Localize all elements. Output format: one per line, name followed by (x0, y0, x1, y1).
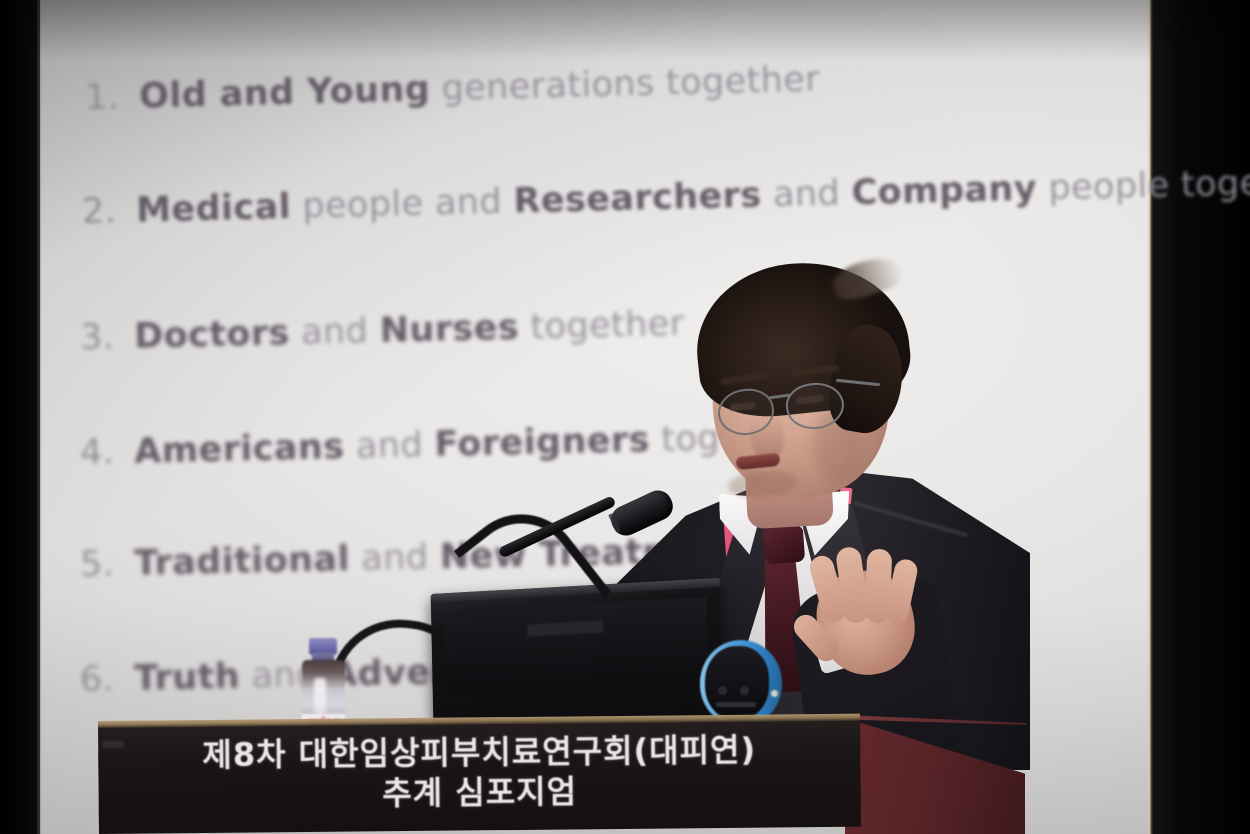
podium-banner-line-1: 제8차 대한임상피부치료연구회(대피연) (202, 733, 756, 774)
slide-line-1: 1.Old and Young generations together (84, 59, 820, 118)
water-bottle: evian (300, 638, 348, 730)
slide-line-3-part-1: Doctors (134, 313, 290, 357)
blue-timer-device (700, 640, 782, 726)
slide-line-3-part-3: Nurses (379, 308, 519, 351)
water-bottle-highlight (314, 678, 326, 716)
slide-line-5-part-2: and (349, 537, 440, 579)
podium-banner: 제8차 대한임상피부치료연구회(대피연) 추계 심포지엄 (98, 720, 861, 834)
wall-right (1152, 0, 1250, 834)
slide-line-2-number: 2. (82, 191, 117, 232)
slide-line-1-part-1: Old and Young (139, 69, 431, 116)
blue-timer-button-left (718, 686, 727, 695)
slide-line-1-number: 1. (84, 77, 119, 118)
slide-line-2-part-4: and (761, 173, 852, 215)
blue-timer-button-right (740, 686, 749, 695)
slide-line-5-part-1: Traditional (134, 539, 350, 584)
slide-line-4-part-1: Americans (134, 427, 345, 472)
slide-line-2-part-1: Medical (136, 187, 292, 231)
slide-line-1-part-2: generations together (430, 59, 821, 109)
slide-line-4-part-2: and (344, 425, 435, 467)
necktie-knot (763, 526, 805, 565)
slide-line-3: 3.Doctors and Nurses together (80, 304, 685, 358)
podium-banner-line-2: 추계 심포지엄 (382, 774, 577, 812)
blue-timer-label (716, 702, 756, 707)
slide-line-4-number: 4. (80, 432, 115, 473)
slide-line-5-number: 5. (80, 544, 115, 585)
blue-timer-screw (771, 690, 778, 697)
slide-line-3-part-2: and (289, 311, 380, 353)
slide-line-2: 2.Medical people and Researchers and Com… (82, 161, 1250, 232)
photo-scene: 1.Old and Young generations together 2.M… (0, 0, 1250, 834)
slide-line-2-part-2: people and (290, 181, 514, 226)
slide-line-3-number: 3. (80, 317, 115, 358)
slide-line-2-part-6: people together (1036, 161, 1250, 208)
screen-right-edge (1147, 0, 1153, 834)
podium-front-panel: 제8차 대한임상피부치료연구회(대피연) 추계 심포지엄 (98, 720, 861, 834)
slide-line-2-part-3: Researchers (513, 175, 762, 221)
slide-line-6-number: 6. (80, 659, 115, 700)
slide-line-2-part-5: Company (851, 169, 1037, 214)
blue-timer-face (705, 646, 769, 720)
slide-line-6-part-1: Truth (134, 657, 241, 699)
